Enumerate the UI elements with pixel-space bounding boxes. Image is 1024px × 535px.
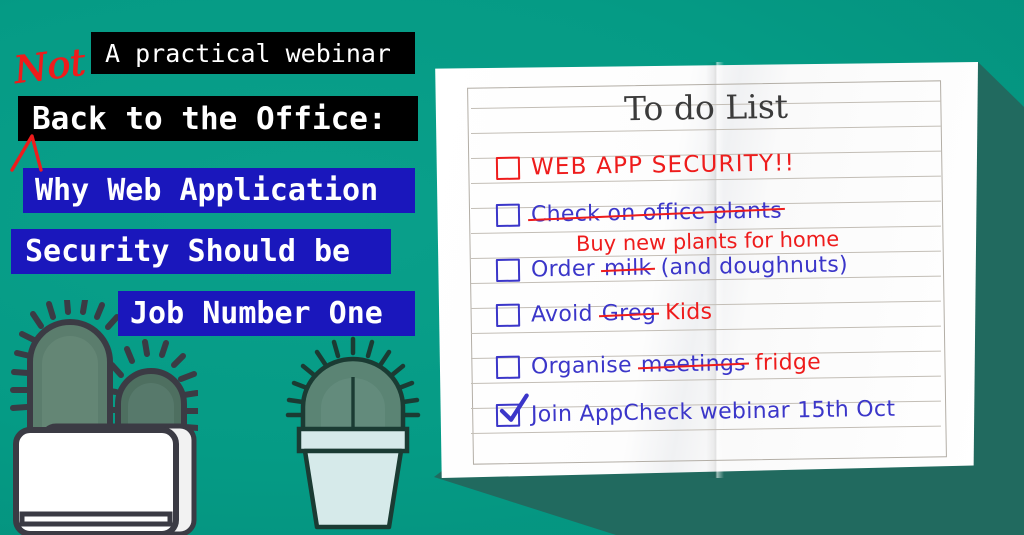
page-title: To do List bbox=[470, 84, 943, 130]
todo-text-struck: milk bbox=[604, 255, 652, 281]
todo-text: WEB APP SECURITY!! bbox=[531, 150, 795, 180]
todo-text-struck: meetings bbox=[641, 351, 746, 378]
title-bar-4: Job Number One bbox=[118, 291, 415, 336]
todo-text-added: Kids bbox=[665, 299, 713, 325]
todo-item-text: Ordermilk(and doughnuts) bbox=[531, 252, 848, 282]
todo-item-text: AvoidGregKids bbox=[531, 299, 713, 327]
poster-canvas: To do List WEB APP SECURITY!!Check on of… bbox=[0, 0, 1024, 535]
todo-text: Avoid bbox=[531, 301, 593, 327]
todo-text-struck: Greg bbox=[602, 300, 657, 326]
insertion-caret-icon bbox=[8, 130, 54, 172]
title-bar-1: Back to the Office: bbox=[18, 96, 418, 141]
todo-text: Order bbox=[531, 256, 595, 282]
todo-item-text: Organisemeetingsfridge bbox=[531, 349, 821, 379]
title-bar-3: Security Should be bbox=[11, 229, 391, 274]
todo-item-text: Join AppCheck webinar 15th Oct bbox=[531, 396, 896, 427]
inserted-note-buy-plants: Buy new plants for home bbox=[576, 227, 840, 256]
checkbox-unchecked[interactable] bbox=[496, 203, 520, 226]
todo-text-added: (and doughnuts) bbox=[660, 252, 848, 280]
todo-text-struck: Check on office plants bbox=[531, 198, 782, 227]
todo-item-text: WEB APP SECURITY!! bbox=[531, 150, 795, 180]
title-line-4: Job Number One bbox=[130, 296, 383, 331]
checkbox-unchecked[interactable] bbox=[496, 355, 520, 378]
checkbox-checked[interactable] bbox=[496, 403, 520, 426]
todo-item-text: Check on office plants bbox=[531, 198, 782, 227]
todo-item[interactable]: Organisemeetingsfridge bbox=[496, 347, 821, 382]
todo-text-added: fridge bbox=[755, 349, 822, 375]
todo-text: Organise bbox=[531, 352, 632, 379]
todo-item[interactable]: Join AppCheck webinar 15th Oct bbox=[496, 394, 896, 430]
todo-item[interactable]: Check on office plants bbox=[496, 196, 782, 230]
title-line-1: Back to the Office: bbox=[32, 101, 387, 137]
todo-item[interactable]: AvoidGregKids bbox=[496, 297, 713, 330]
title-line-2: Why Web Application bbox=[35, 173, 378, 208]
checkbox-unchecked[interactable] bbox=[496, 156, 520, 179]
title-line-3: Security Should be bbox=[25, 234, 350, 269]
todo-item[interactable]: WEB APP SECURITY!! bbox=[496, 148, 796, 183]
kicker-text: A practical webinar bbox=[105, 39, 391, 68]
todo-text: Join AppCheck webinar 15th Oct bbox=[531, 396, 896, 427]
kicker-bar: A practical webinar bbox=[91, 32, 415, 74]
todo-item[interactable]: Ordermilk(and doughnuts) bbox=[496, 249, 848, 285]
checkbox-unchecked[interactable] bbox=[496, 258, 520, 281]
checkbox-unchecked[interactable] bbox=[496, 303, 520, 326]
handwritten-not-annotation: Not bbox=[12, 40, 88, 92]
title-bar-2: Why Web Application bbox=[23, 168, 415, 213]
round-cactus-in-blue-pot-icon bbox=[283, 335, 423, 535]
